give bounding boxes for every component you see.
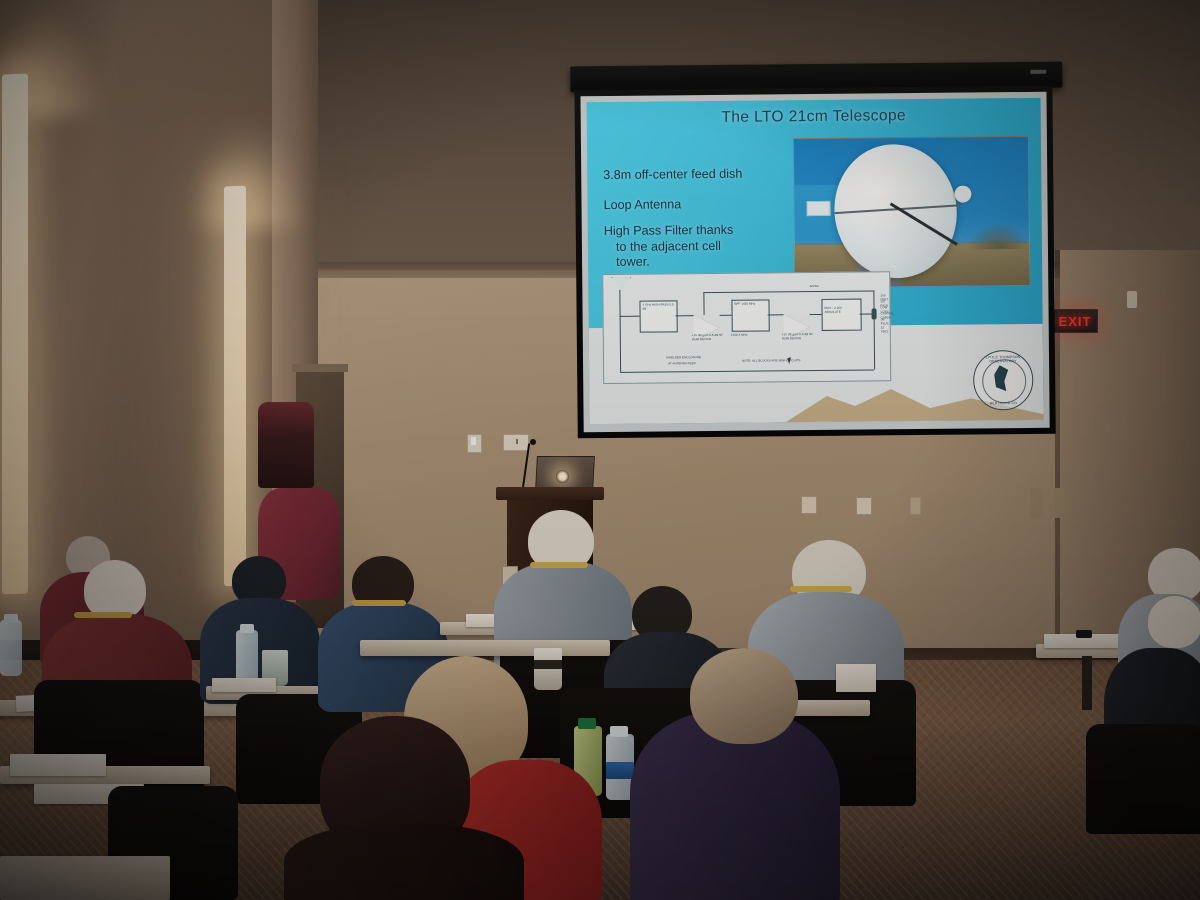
window-light-slot — [224, 186, 246, 587]
photo-treeline — [969, 223, 1029, 250]
diagram-amp2-label: +15 dB gain 0.5 dB NF 20dB DEVICE — [782, 333, 816, 341]
dish-photograph — [793, 136, 1030, 288]
diagram-block-hpf-label: 1 GHz HIGH PASS 0.5 dB — [642, 303, 674, 311]
bottle-cap — [578, 718, 596, 729]
handout-paper — [836, 664, 876, 692]
projected-slide: The LTO 21cm Telescope 3.8m off-center f… — [587, 98, 1044, 424]
diagram-bpf-note: 1420.4 MHz — [731, 333, 769, 337]
diagram-enclosure-note-1: SHIELDED ENCLOSURE — [666, 356, 724, 360]
chair — [1086, 724, 1200, 834]
wall-light-glow — [186, 118, 306, 228]
projection-screen: The LTO 21cm Telescope 3.8m off-center f… — [564, 62, 1066, 445]
wall-panel-right — [1030, 488, 1043, 518]
screenshot-root: EXIT The LTO 21cm Telescope 3.8m off-cen… — [0, 0, 1200, 900]
diagram-output-label: MAX - 2 28V ABSOLUTE — [825, 307, 859, 315]
lanyard — [74, 612, 132, 618]
table-leg — [1082, 656, 1092, 710]
table — [0, 856, 170, 900]
bottle-cap — [4, 614, 18, 623]
screen-valance-nub — [1030, 70, 1046, 74]
diagram-wire — [703, 290, 873, 293]
dish-feed-horn — [954, 185, 971, 202]
diagram-wire — [810, 314, 822, 315]
lanyard — [352, 600, 406, 606]
diagram-wire — [620, 316, 640, 317]
slide-bullet-1: 3.8m off-center feed dish — [603, 166, 793, 184]
phone-icon — [1076, 630, 1092, 638]
photo-window — [807, 201, 831, 216]
bottle-cap — [240, 624, 254, 633]
slide-bullet-2: Loop Antenna — [603, 196, 793, 214]
table — [360, 640, 610, 656]
audience-head — [1148, 596, 1200, 648]
lanyard — [790, 586, 852, 592]
bottle-cap — [610, 726, 628, 737]
logo-text-bottom: BERTHOUD CO — [974, 401, 1032, 406]
door-header — [292, 364, 348, 372]
cable-note-line-5: (W PLUS 12 VDC) — [881, 318, 890, 334]
presenter-legs — [258, 402, 314, 488]
cup-sleeve — [534, 660, 562, 669]
lanyard — [530, 562, 588, 568]
audience-head — [690, 648, 798, 744]
slide-title: The LTO 21cm Telescope — [587, 106, 1041, 128]
microphone-icon — [530, 439, 536, 445]
diagram-block-bpf-label: BPF 1420 MHz — [734, 302, 766, 306]
wall-panel-right — [1054, 488, 1067, 518]
diagram-wire — [768, 314, 784, 315]
diagram-wire — [676, 315, 694, 316]
wall-outlet — [910, 497, 921, 515]
slide-bullet-3-line2: to the adjacent cell — [604, 238, 794, 256]
logo-text-top: LITTLE THOMPSON OBSERVATORY — [974, 355, 1032, 364]
observatory-logo: LITTLE THOMPSON OBSERVATORY BERTHOUD CO — [973, 350, 1034, 411]
wall-outlet — [856, 497, 872, 515]
coffee-cup — [534, 648, 562, 690]
diagram-wire — [620, 316, 622, 372]
slide-bullet-3-line3: tower. — [604, 254, 794, 272]
antenna-icon — [611, 277, 631, 290]
diagram-wire — [703, 292, 704, 315]
bottle-label — [606, 762, 634, 779]
audience-torso — [284, 824, 524, 900]
diagram-wire — [620, 369, 874, 372]
diagram-block-output — [821, 299, 861, 331]
water-bottle — [0, 620, 22, 676]
diagram-wire — [873, 290, 874, 313]
wall-panel-indicator — [516, 439, 518, 444]
audience-head — [84, 560, 146, 620]
light-switch-toggle[interactable] — [471, 437, 476, 445]
wall-outlet — [801, 496, 817, 514]
diagram-bias-note: NOTE: ALL BLOCKS ARE MINI-CIRCUITS — [742, 359, 818, 364]
window-light-slot — [2, 74, 28, 595]
logo-ring-text: LITTLE THOMPSON OBSERVATORY BERTHOUD CO — [974, 351, 1033, 410]
handout-paper — [212, 678, 276, 692]
laptop-logo-glow — [556, 470, 569, 483]
podium-top — [496, 487, 604, 500]
diagram-wire — [874, 319, 875, 369]
diagram-wire — [619, 290, 620, 316]
wall-sensor-icon — [1127, 291, 1137, 308]
diagram-top-label: 12VDC — [809, 285, 819, 289]
diagram-amp1-label: +15 dB gain 0.5 dB NF 20dB DEVICE — [692, 334, 726, 342]
handout-paper — [10, 754, 106, 776]
rf-block-diagram: 1 GHz HIGH PASS 0.5 dB +15 dB gain 0.5 d… — [602, 271, 891, 384]
diagram-wire — [720, 315, 732, 316]
slide-bullet-3-line1: High Pass Filter thanks — [604, 223, 734, 238]
slide-bullet-3: High Pass Filter thanks to the adjacent … — [604, 222, 794, 271]
diagram-enclosure-note-2: AT ANTENNA FEED — [668, 362, 726, 366]
